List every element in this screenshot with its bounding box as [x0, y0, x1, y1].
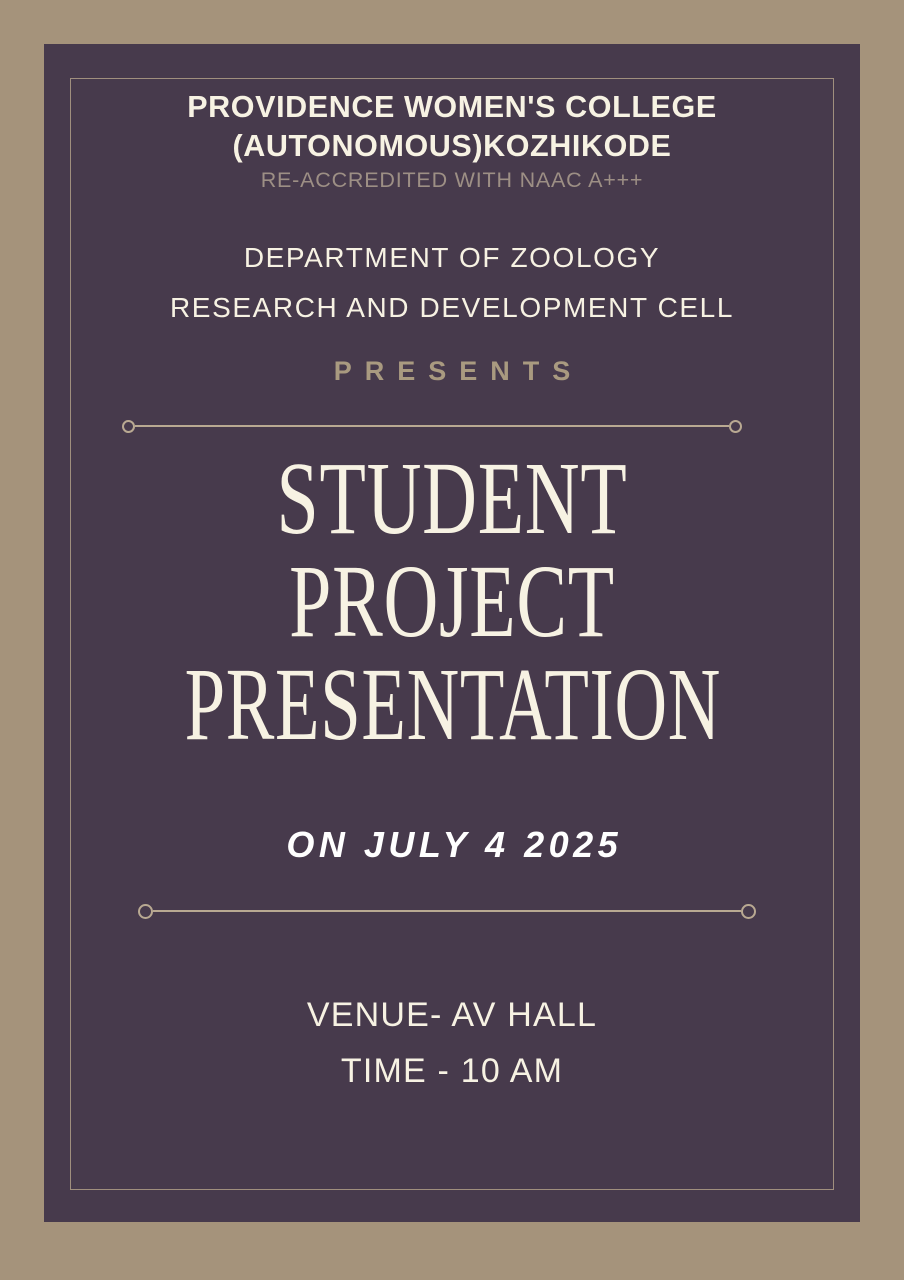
- event-title-line-3: PRESENTATION: [185, 654, 720, 757]
- ring-left-icon: [122, 420, 135, 433]
- event-time: TIME - 10 AM: [70, 1052, 834, 1091]
- research-cell-name: RESEARCH AND DEVELOPMENT CELL: [70, 292, 834, 324]
- ring-right-icon: [741, 904, 756, 919]
- event-title-line-1: STUDENT: [173, 448, 731, 551]
- event-title: STUDENT PROJECT PRESENTATION: [70, 448, 834, 757]
- accreditation-text: RE-ACCREDITED WITH NAAC A+++: [70, 168, 834, 193]
- ring-right-icon: [729, 420, 742, 433]
- event-venue: VENUE- AV HALL: [70, 996, 834, 1035]
- divider-top: [122, 419, 742, 433]
- college-name-line-1: PROVIDENCE WOMEN'S COLLEGE: [70, 88, 834, 127]
- divider-rule: [135, 425, 729, 427]
- department-name: DEPARTMENT OF ZOOLOGY: [70, 242, 834, 274]
- poster-content: PROVIDENCE WOMEN'S COLLEGE (AUTONOMOUS)K…: [70, 78, 834, 1190]
- ring-left-icon: [138, 904, 153, 919]
- divider-bottom: [138, 904, 756, 918]
- college-name: PROVIDENCE WOMEN'S COLLEGE (AUTONOMOUS)K…: [70, 88, 834, 166]
- college-name-line-2: (AUTONOMOUS)KOZHIKODE: [70, 127, 834, 166]
- presents-label: PRESENTS: [70, 356, 834, 387]
- divider-rule: [153, 910, 741, 912]
- event-poster: PROVIDENCE WOMEN'S COLLEGE (AUTONOMOUS)K…: [0, 0, 904, 1280]
- event-date: ON JULY 4 2025: [70, 824, 834, 866]
- event-title-line-2: PROJECT: [173, 551, 731, 654]
